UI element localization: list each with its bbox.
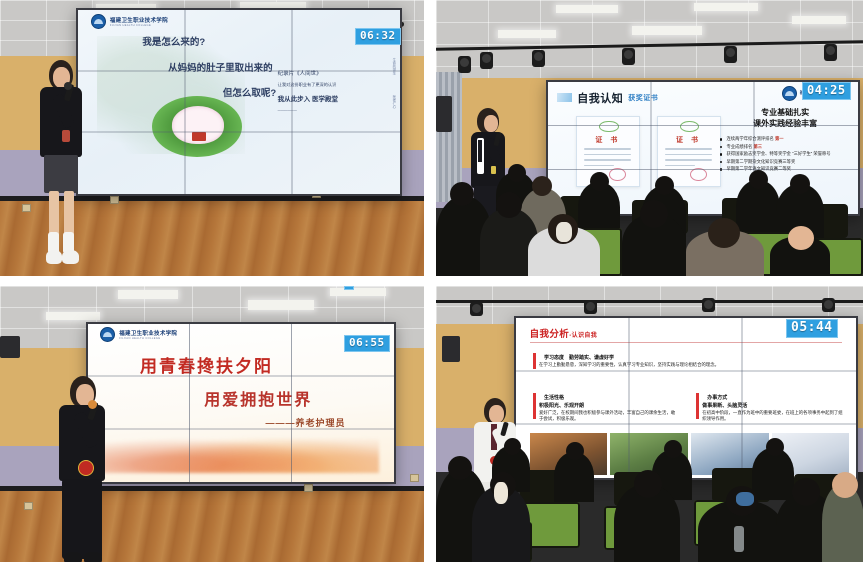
wall-socket-icon [304,484,313,492]
school-seal-icon [100,327,115,342]
section-heading: 学习态度 [544,355,564,361]
title-flag-icon [557,93,572,102]
school-name: 福建卫生职业技术学院 [110,16,168,24]
school-name: 福建卫生职业技术学院 [119,329,177,337]
slide-heading-2: 课外实践经验丰富 [719,119,852,130]
photo-collage: 福建卫生职业技术学院 FUJIAN HEALTH COLLEGE 我是怎么来的?… [0,0,863,562]
section-heading: 生活性格 [544,395,564,401]
slide-right-line-2: 让我对这份职业有了更深的认识 [278,82,387,88]
presenter [34,60,94,276]
slide-title-bar: 自我认知 获奖证书 [557,90,658,106]
panel-bottom-right[interactable]: 自我分析-认识自我 学习态度勤劳踏实、谦虚好学 在学习上勤勤恳恳，深知学习的重要… [436,286,863,562]
slide-section: 生活性格 积极阳光、乐观开朗 爱好广泛，在校期间我也积极参与课外活动，丰富自己的… [533,392,676,423]
slide-section: 学习态度勤劳踏实、谦虚好学 在学习上勤勤恳恳，深知学习的重要性，认真学习专业知识… [533,352,832,368]
lighting-truss [436,300,863,303]
school-name-sub: FUJIAN HEALTH COLLEGE [110,24,168,27]
slide-bullet-list: 连续两学年综合测评排名 第一 专业成绩排名 第三 获得国家励志奖学金、特等奖学金… [719,135,852,173]
section-body: 爱好广泛，在校期间我也积极参与课外活动，丰富自己的课余生活，敢于尝试，积极乐观。 [539,410,676,423]
video-wall[interactable]: 福建卫生职业技术学院 FUJIAN HEALTH COLLEGE 我是怎么来的?… [76,8,402,196]
slide-title-suffix: -认识自我 [569,333,597,339]
timer-badge: 04:25 [802,82,851,100]
slide-top-left: 福建卫生职业技术学院 FUJIAN HEALTH COLLEGE 我是怎么来的?… [78,10,400,194]
slide-line-1: 我是怎么来的? [142,34,205,48]
timer-badge: 05:44 [786,319,838,338]
slide-right-line-1: 纪录片《人间世》 [278,69,387,77]
slide-bullet: 早期第二学期染文化知识竞赛三等奖 [719,158,852,166]
timer-badge: 06:55 [344,335,390,352]
wall-socket-icon [410,474,419,482]
slide-bullet: 早期第二学年语文知识竞赛二等奖 [719,165,852,173]
emblem-badge-icon [78,460,94,476]
school-name-sub: FUJIAN HEALTH COLLEGE [119,337,177,340]
school-seal-icon [91,14,106,29]
water-bottle [734,526,744,552]
badge-icon [62,130,70,142]
slide-right-line-3: 我从此步入 医学殿堂 [278,93,387,103]
school-header: 福建卫生职业技术学院 FUJIAN HEALTH COLLEGE [100,327,177,342]
section-tagline: 积极阳光、乐观开朗 [539,402,676,409]
slide-bullet: 连续两学年综合测评排名 第一 [719,135,852,143]
school-seal-icon [782,86,797,101]
slide-line-3: ———养老护理员 [265,416,345,429]
slide-line-2: 从妈妈的肚子里取出来的 [168,60,273,74]
slide-title: 自我认知 [577,90,623,106]
slide-title-group: 自我分析-认识自我 [530,326,598,340]
certificate-label: 证 书 [577,135,639,145]
wall-socket-icon [110,196,119,204]
panel-top-left[interactable]: 福建卫生职业技术学院 FUJIAN HEALTH COLLEGE 我是怎么来的?… [0,0,424,276]
panel-bottom-left[interactable]: 福建卫生职业技术学院 FUJIAN HEALTH COLLEGE 用青春搀扶夕阳… [0,286,424,562]
slide-right-column: 纪录片《人间世》 让我对这份职业有了更深的认识 我从此步入 医学殿堂 —————… [278,69,387,117]
section-body: 在学习上勤勤恳恳，深知学习的重要性，认真学习专业知识，坚持实践与理论相结合的理念… [539,362,832,368]
slide-side-label-1: 生命的诞生 [392,58,397,75]
slide-heading-1: 专业基础扎实 [719,108,852,119]
slide-right-panel: 专业基础扎实 课外实践经验丰富 连续两学年综合测评排名 第一 专业成绩排名 第三… [719,108,852,172]
slide-line-2: 用爱拥抱世界 [204,386,312,410]
panel-top-right[interactable]: 自我认知 获奖证书 福建卫生职业技术学院 证 书 证 书 [436,0,863,276]
slide-bullet: 专业成绩排名 第三 [719,143,852,151]
presenter [56,376,118,562]
heart-graphic [152,96,242,157]
slide-side-label-2: 医者仁心 [392,95,397,109]
timer-badge-spacer [344,286,354,290]
badge-icon [491,166,496,174]
wall-socket-icon [22,204,31,212]
section-tagline: 做事果断、头脑灵活 [702,402,846,409]
wall-socket-icon [24,502,33,510]
certificate-label: 证 书 [658,135,720,145]
slide-bullet: 获得国家励志奖学金、特等奖学金 “三好学生” 荣誉称号 [719,150,852,158]
slide-right-line-4: —————— [278,108,387,112]
school-header: 福建卫生职业技术学院 FUJIAN HEALTH COLLEGE [91,14,168,29]
ceiling [436,0,863,78]
slide-line-1: 用青春搀扶夕阳 [140,352,273,377]
section-heading: 办事方式 [707,395,727,401]
timer-badge: 06:32 [355,28,401,45]
section-body: 在初高中阶段，一直作为班中的重要班委，在班上的各项事务中起到了组织领导作用。 [702,410,846,423]
slide-title: 自我分析 [530,329,570,340]
section-tagline: 勤劳踏实、谦虚好学 [569,355,614,361]
slide-section: 办事方式 做事果断、头脑灵活 在初高中阶段，一直作为班中的重要班委，在班上的各项… [696,392,846,423]
slide-subtitle: 获奖证书 [628,93,658,103]
